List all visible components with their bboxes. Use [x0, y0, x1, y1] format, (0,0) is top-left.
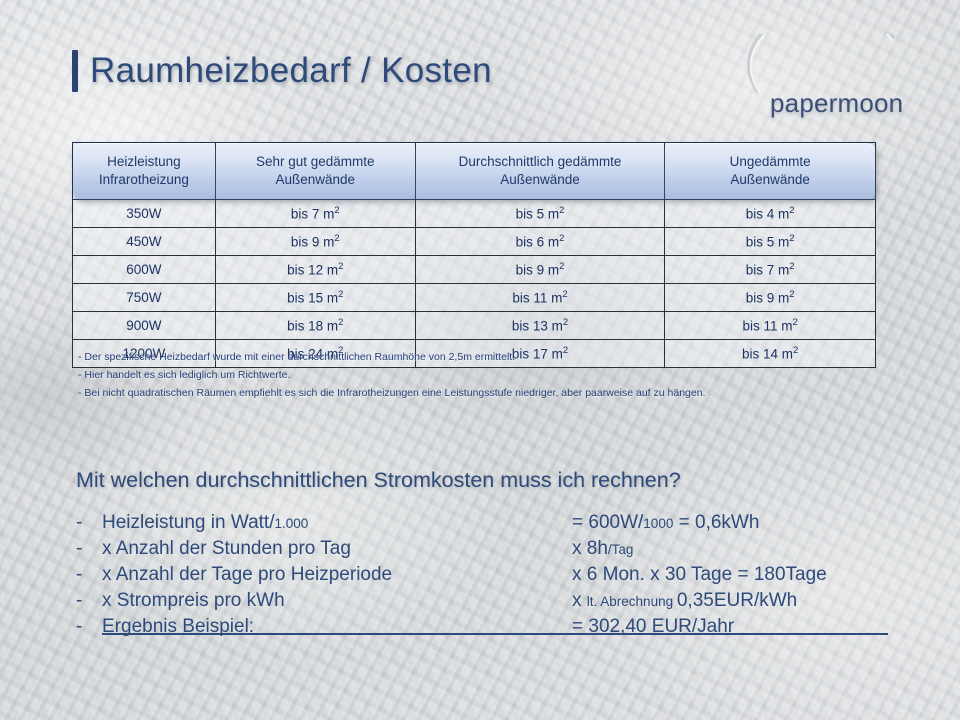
- cell-uninsulated: bis 5 m2: [665, 228, 876, 256]
- bullet-dash: -: [76, 564, 102, 586]
- superscript-unit: 2: [562, 289, 567, 300]
- calculation-value-small: 1000: [643, 516, 673, 531]
- footnote-item: - Der spezifische Heizbedarf wurde mit e…: [78, 348, 868, 366]
- cell-average-insulated: bis 9 m2: [415, 256, 665, 284]
- superscript-unit: 2: [559, 205, 564, 216]
- calculation-list: -Heizleistung in Watt/1.000= 600W/1000 =…: [76, 512, 886, 642]
- table-row: 750Wbis 15 m2bis 11 m2bis 9 m2: [73, 284, 876, 312]
- table-row: 900Wbis 18 m2bis 13 m2bis 11 m2: [73, 312, 876, 340]
- cell-uninsulated: bis 9 m2: [665, 284, 876, 312]
- bullet-dash: -: [76, 538, 102, 560]
- calculation-row: -Ergebnis Beispiel:= 302,40 EUR/Jahr: [76, 616, 886, 642]
- cell-average-insulated: bis 6 m2: [415, 228, 665, 256]
- superscript-unit: 2: [334, 205, 339, 216]
- title-accent-bar: [72, 50, 78, 92]
- calculation-label: x Strompreis pro kWh: [102, 590, 572, 612]
- table-row: 350Wbis 7 m2bis 5 m2bis 4 m2: [73, 200, 876, 228]
- calculation-row: -Heizleistung in Watt/1.000= 600W/1000 =…: [76, 512, 886, 538]
- calculation-label: x Anzahl der Stunden pro Tag: [102, 538, 572, 560]
- superscript-unit: 2: [338, 289, 343, 300]
- cell-power: 450W: [73, 228, 216, 256]
- superscript-unit: 2: [792, 317, 797, 328]
- calculation-label: Heizleistung in Watt/1.000: [102, 512, 572, 534]
- calculation-label: x Anzahl der Tage pro Heizperiode: [102, 564, 572, 586]
- cell-well-insulated: bis 9 m2: [215, 228, 415, 256]
- calculation-value-small: /Tag: [608, 542, 634, 557]
- column-header-average-insulated: Durchschnittlich gedämmte Außenwände: [415, 143, 665, 200]
- calculation-row: -x Anzahl der Tage pro Heizperiodex 6 Mo…: [76, 564, 886, 590]
- superscript-unit: 2: [334, 233, 339, 244]
- calculation-label-small: 1.000: [274, 516, 308, 531]
- cell-well-insulated: bis 15 m2: [215, 284, 415, 312]
- bullet-dash: -: [76, 616, 102, 638]
- table-row: 600Wbis 12 m2bis 9 m2bis 7 m2: [73, 256, 876, 284]
- cell-well-insulated: bis 12 m2: [215, 256, 415, 284]
- superscript-unit: 2: [789, 261, 794, 272]
- cell-average-insulated: bis 11 m2: [415, 284, 665, 312]
- result-underline: [102, 633, 888, 635]
- superscript-unit: 2: [338, 317, 343, 328]
- column-header-uninsulated: Ungedämmte Außenwände: [665, 143, 876, 200]
- cell-power: 350W: [73, 200, 216, 228]
- superscript-unit: 2: [559, 261, 564, 272]
- cell-well-insulated: bis 18 m2: [215, 312, 415, 340]
- page-title: Raumheizbedarf / Kosten: [72, 50, 492, 92]
- column-header-power: Heizleistung Infrarotheizung: [73, 143, 216, 200]
- column-header-well-insulated: Sehr gut gedämmte Außenwände: [215, 143, 415, 200]
- superscript-unit: 2: [789, 205, 794, 216]
- calculation-row: -x Strompreis pro kWhx lt. Abrechnung 0,…: [76, 590, 886, 616]
- cell-uninsulated: bis 7 m2: [665, 256, 876, 284]
- cell-uninsulated: bis 4 m2: [665, 200, 876, 228]
- cell-uninsulated: bis 11 m2: [665, 312, 876, 340]
- calculation-label: Ergebnis Beispiel:: [102, 616, 572, 638]
- cell-average-insulated: bis 5 m2: [415, 200, 665, 228]
- superscript-unit: 2: [563, 317, 568, 328]
- cell-power: 750W: [73, 284, 216, 312]
- cell-power: 900W: [73, 312, 216, 340]
- footnote-item: - Bei nicht quadratischen Räumen empfieh…: [78, 384, 868, 402]
- logo-text: papermoon: [770, 88, 903, 119]
- title-text: Raumheizbedarf / Kosten: [90, 51, 492, 91]
- bullet-dash: -: [76, 512, 102, 534]
- calculation-value: x 8h/Tag: [572, 538, 633, 560]
- calculation-value: = 600W/1000 = 0,6kWh: [572, 512, 759, 534]
- calculation-value: x lt. Abrechnung 0,35EUR/kWh: [572, 590, 797, 612]
- superscript-unit: 2: [559, 233, 564, 244]
- cell-average-insulated: bis 13 m2: [415, 312, 665, 340]
- crescent-moon-icon: [744, 34, 934, 94]
- cell-well-insulated: bis 7 m2: [215, 200, 415, 228]
- footnotes: - Der spezifische Heizbedarf wurde mit e…: [78, 348, 868, 402]
- section-question: Mit welchen durchschnittlichen Stromkost…: [76, 468, 681, 493]
- footnote-item: - Hier handelt es sich lediglich um Rich…: [78, 366, 868, 384]
- slide-canvas: Raumheizbedarf / Kosten papermoon Heizle…: [0, 0, 960, 720]
- calculation-value: x 6 Mon. x 30 Tage = 180Tage: [572, 564, 827, 586]
- bullet-dash: -: [76, 590, 102, 612]
- papermoon-logo: papermoon: [744, 34, 934, 118]
- heating-requirement-table: Heizleistung Infrarotheizung Sehr gut ge…: [72, 142, 876, 368]
- table-header-row: Heizleistung Infrarotheizung Sehr gut ge…: [73, 143, 876, 200]
- cell-power: 600W: [73, 256, 216, 284]
- table-body: 350Wbis 7 m2bis 5 m2bis 4 m2450Wbis 9 m2…: [73, 200, 876, 368]
- superscript-unit: 2: [338, 261, 343, 272]
- table-row: 450Wbis 9 m2bis 6 m2bis 5 m2: [73, 228, 876, 256]
- calculation-row: -x Anzahl der Stunden pro Tagx 8h/Tag: [76, 538, 886, 564]
- calculation-value-small: lt. Abrechnung: [587, 594, 677, 609]
- superscript-unit: 2: [789, 233, 794, 244]
- superscript-unit: 2: [789, 289, 794, 300]
- table-header: Heizleistung Infrarotheizung Sehr gut ge…: [73, 143, 876, 200]
- calculation-value: = 302,40 EUR/Jahr: [572, 616, 734, 638]
